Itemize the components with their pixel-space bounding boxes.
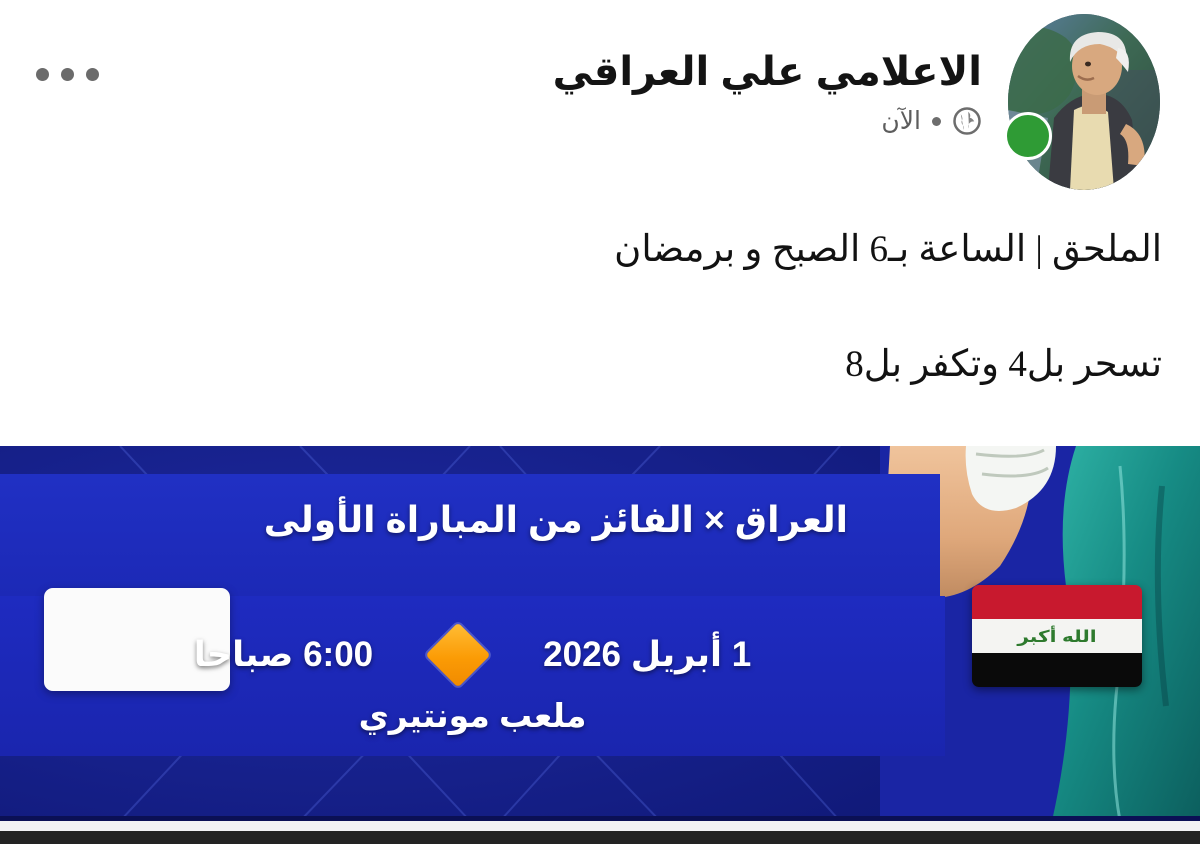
match-graphic[interactable]: العراق × الفائز من المباراة الأولى الله …	[0, 446, 1200, 821]
post-screen: الاعلامي علي العراقي الآن الملحق | الساع…	[0, 0, 1200, 844]
match-stadium: ملعب مونتيري	[0, 696, 945, 735]
post-timestamp: الآن	[881, 106, 921, 136]
match-headline: العراق × الفائز من المباراة الأولى	[264, 499, 848, 541]
active-now-dot	[1004, 112, 1052, 160]
flag-band-white: الله أكبر	[972, 619, 1142, 653]
post-body: الملحق | الساعة بـ6 الصبح و برمضان تسحر …	[0, 226, 1200, 390]
ellipsis-icon[interactable]	[36, 68, 99, 81]
flag-band-black	[972, 653, 1142, 687]
ellipsis-dot	[86, 68, 99, 81]
author-block: الاعلامي علي العراقي الآن	[282, 48, 982, 136]
flag-iraq: الله أكبر	[972, 585, 1142, 687]
meta-separator-dot	[932, 117, 941, 126]
post-header: الاعلامي علي العراقي الآن	[0, 0, 1200, 210]
match-date: 1 أبريل 2026	[543, 635, 751, 675]
match-time: 6:00 صباحا	[194, 635, 373, 675]
flag-band-red	[972, 585, 1142, 619]
post-body-line-2: تسحر بل4 وتكفر بل8	[38, 341, 1162, 390]
flag-takbir-script: الله أكبر	[1017, 626, 1096, 647]
post-body-line-1: الملحق | الساعة بـ6 الصبح و برمضان	[38, 226, 1162, 275]
bottom-dark-band	[0, 831, 1200, 844]
orange-diamond-icon	[426, 622, 491, 687]
match-datetime-row: 1 أبريل 2026 6:00 صباحا	[0, 622, 945, 688]
ellipsis-dot	[36, 68, 49, 81]
author-name[interactable]: الاعلامي علي العراقي	[282, 48, 982, 96]
avatar-wrapper[interactable]	[1008, 14, 1160, 190]
post-meta: الآن	[282, 106, 982, 136]
bottom-white-band	[0, 821, 1200, 831]
ellipsis-dot	[61, 68, 74, 81]
globe-icon	[952, 106, 982, 136]
avatar[interactable]	[1008, 14, 1160, 190]
